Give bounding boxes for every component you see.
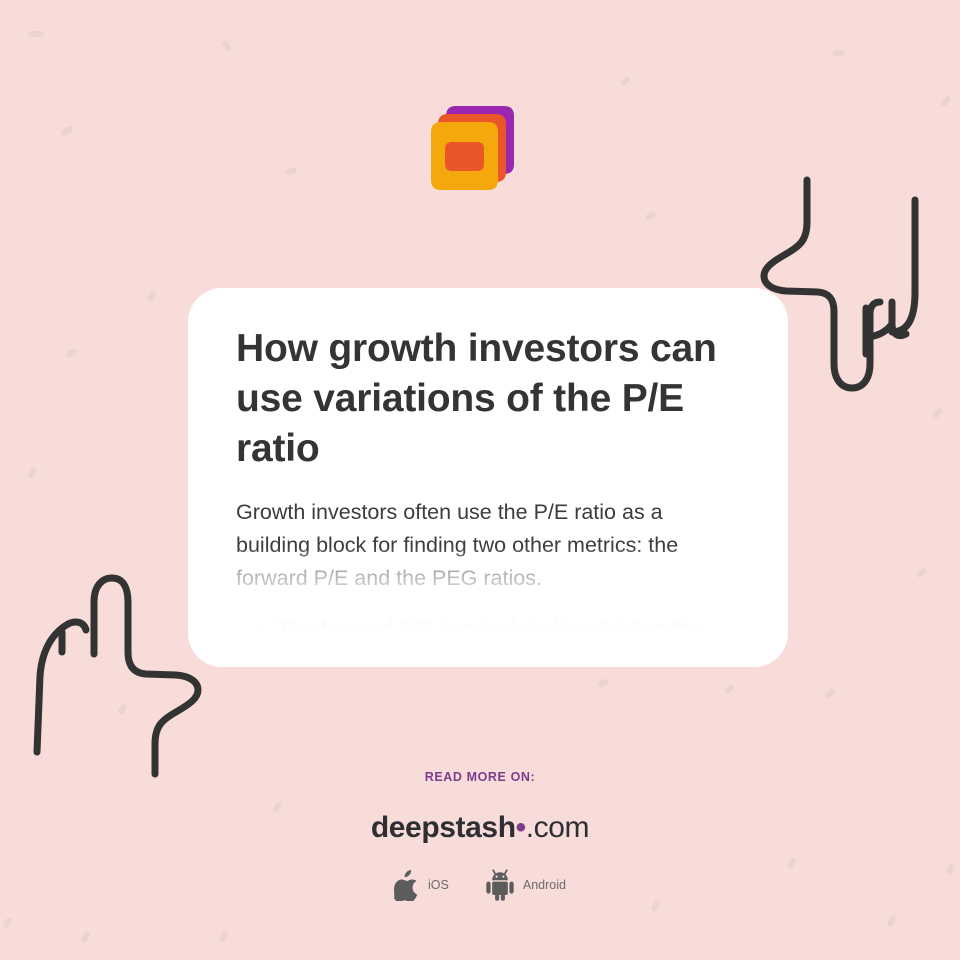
android-badge[interactable]: Android [485, 869, 566, 901]
wordmark-name: deepstash [371, 811, 516, 844]
list-item: The forward P/E is calculated by dividin… [258, 613, 740, 646]
confetti-speck [915, 567, 927, 578]
confetti-speck [285, 166, 297, 175]
app-store-badges: iOS [0, 869, 960, 901]
wordmark-tld: .com [526, 811, 589, 844]
card-body-text: Growth investors often use the P/E ratio… [236, 496, 740, 595]
confetti-speck [2, 917, 12, 930]
confetti-speck [60, 125, 73, 137]
confetti-speck [824, 687, 836, 699]
deepstash-logo [428, 104, 518, 196]
card-content: How growth investors can use variations … [188, 288, 788, 646]
ios-label: iOS [428, 878, 449, 892]
confetti-speck [932, 407, 944, 419]
confetti-speck [146, 290, 157, 302]
apple-icon [394, 870, 420, 901]
confetti-speck [28, 31, 44, 37]
read-more-label: READ MORE ON: [0, 770, 960, 784]
confetti-speck [597, 678, 610, 688]
card-title: How growth investors can use variations … [236, 324, 740, 474]
idea-card[interactable]: How growth investors can use variations … [188, 288, 788, 667]
poster-canvas: How growth investors can use variations … [0, 0, 960, 960]
android-label: Android [523, 878, 566, 892]
confetti-speck [218, 931, 228, 944]
confetti-speck [644, 211, 657, 222]
footer: READ MORE ON: deepstash•.com iOS [0, 770, 960, 901]
confetti-speck [117, 703, 127, 716]
confetti-speck [723, 683, 735, 695]
confetti-speck [65, 348, 78, 358]
confetti-speck [886, 915, 896, 928]
ios-badge[interactable]: iOS [394, 870, 449, 901]
confetti-speck [619, 75, 631, 87]
confetti-speck [80, 931, 91, 944]
card-bullet-list: The forward P/E is calculated by dividin… [236, 613, 740, 646]
confetti-speck [27, 467, 38, 480]
confetti-speck [833, 49, 845, 56]
confetti-speck [940, 95, 952, 108]
pointing-hand-left [18, 556, 214, 782]
android-icon [485, 869, 515, 901]
confetti-speck [650, 900, 660, 913]
confetti-speck [221, 40, 231, 53]
wordmark-dot: • [516, 811, 526, 844]
deepstash-wordmark[interactable]: deepstash•.com [0, 813, 960, 843]
